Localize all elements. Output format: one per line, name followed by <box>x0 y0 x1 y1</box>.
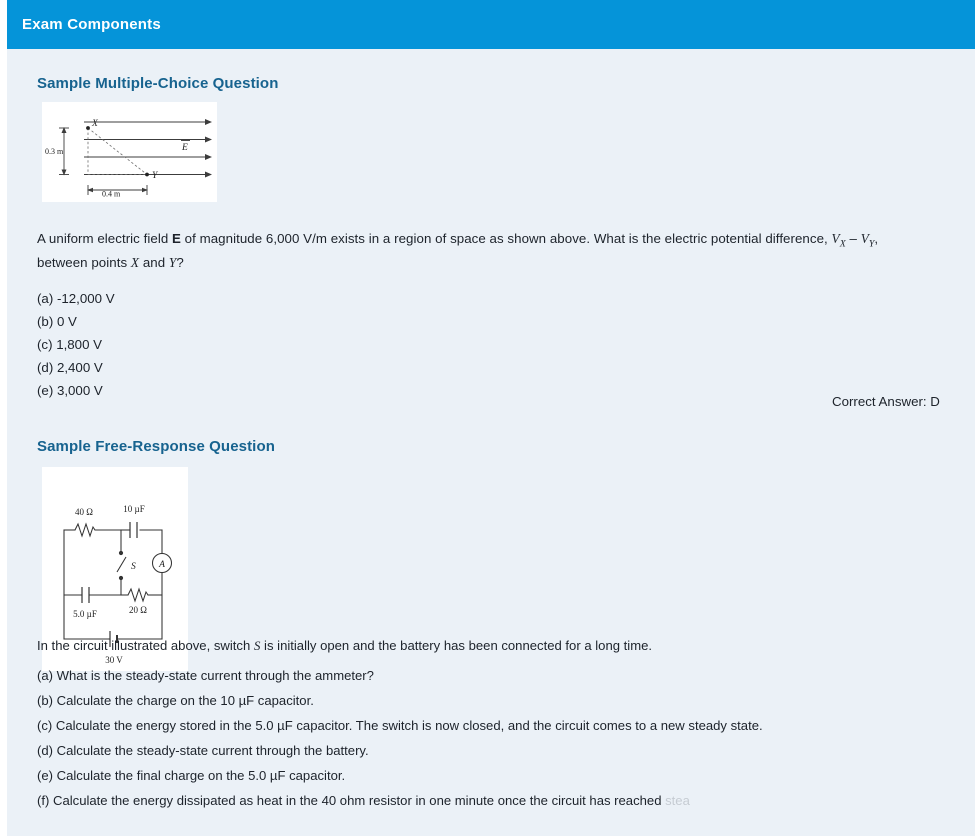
label-battery-30v: 30 V <box>105 655 123 665</box>
mcq-stem: A uniform electric field E of magnitude … <box>37 230 942 272</box>
mcq-stem-vx: V <box>832 231 840 246</box>
content-area: Sample Multiple-Choice Question <box>7 49 975 836</box>
frq-part-f-text: (f) Calculate the energy dissipated as h… <box>37 793 665 808</box>
mcq-stem-part2: of magnitude 6,000 V/m exists in a regio… <box>181 231 832 246</box>
frq-section-heading: Sample Free-Response Question <box>37 438 275 455</box>
frq-part-a: (a) What is the steady-state current thr… <box>37 668 374 683</box>
mcq-stem-line2-c: ? <box>176 255 183 270</box>
uniform-electric-field-diagram: 0.3 m 0.4 m X Y E <box>42 102 217 202</box>
label-0-3-m: 0.3 m <box>45 147 64 156</box>
app-header: Exam Components <box>7 0 975 49</box>
label-field-e: E <box>181 143 188 153</box>
mcq-stem-line2-b: and <box>139 255 169 270</box>
mcq-stem-line2-x: X <box>131 255 139 270</box>
frq-part-f-faded-tail: stea <box>665 793 690 808</box>
label-0-4-m: 0.4 m <box>102 190 121 199</box>
mcq-choice-b[interactable]: (b) 0 V <box>37 314 77 329</box>
label-resistor-20-ohm: 20 Ω <box>129 605 147 615</box>
mcq-stem-bold-e: E <box>172 231 181 246</box>
mcq-choice-a[interactable]: (a) -12,000 V <box>37 291 115 306</box>
page-title: Exam Components <box>22 16 161 33</box>
mcq-section-heading: Sample Multiple-Choice Question <box>37 75 278 92</box>
page-root: Exam Components Sample Multiple-Choice Q… <box>0 0 975 836</box>
frq-part-d: (d) Calculate the steady-state current t… <box>37 743 369 758</box>
frq-part-b: (b) Calculate the charge on the 10 µF ca… <box>37 693 314 708</box>
capacitor-10uf-symbol <box>130 522 137 538</box>
mcq-choice-c[interactable]: (c) 1,800 V <box>37 337 102 352</box>
label-point-x: X <box>91 119 99 129</box>
mcq-stem-part3: , <box>874 231 878 246</box>
frq-intro-a: In the circuit illustrated above, switch <box>37 638 254 653</box>
frq-part-e: (e) Calculate the final charge on the 5.… <box>37 768 345 783</box>
resistor-40-ohm-symbol <box>75 524 95 536</box>
mcq-figure-box: 0.3 m 0.4 m X Y E <box>42 102 217 202</box>
mcq-choice-d[interactable]: (d) 2,400 V <box>37 360 103 375</box>
mcq-stem-line2-a: between points <box>37 255 131 270</box>
mcq-stem-vy: V <box>861 231 869 246</box>
ammeter-symbol: A <box>153 554 172 573</box>
frq-part-f: (f) Calculate the energy dissipated as h… <box>37 793 690 808</box>
frq-part-c: (c) Calculate the energy stored in the 5… <box>37 718 763 733</box>
mcq-stem-part1: A uniform electric field <box>37 231 172 246</box>
label-switch-s: S <box>131 562 136 572</box>
mcq-choice-e[interactable]: (e) 3,000 V <box>37 383 103 398</box>
capacitor-5uf-symbol <box>82 587 89 603</box>
ammeter-label: A <box>158 560 165 570</box>
frq-intro: In the circuit illustrated above, switch… <box>37 638 652 654</box>
frq-intro-b: is initially open and the battery has be… <box>260 638 652 653</box>
resistor-20-ohm-symbol <box>128 589 148 601</box>
mcq-correct-answer: Correct Answer: D <box>832 394 940 409</box>
label-capacitor-10uf: 10 µF <box>123 504 144 514</box>
switch-s-symbol <box>117 551 126 580</box>
mcq-stem-minus: – <box>846 231 861 246</box>
label-resistor-40-ohm: 40 Ω <box>75 507 93 517</box>
label-capacitor-5uf: 5.0 µF <box>73 609 97 619</box>
label-point-y: Y <box>152 171 159 181</box>
